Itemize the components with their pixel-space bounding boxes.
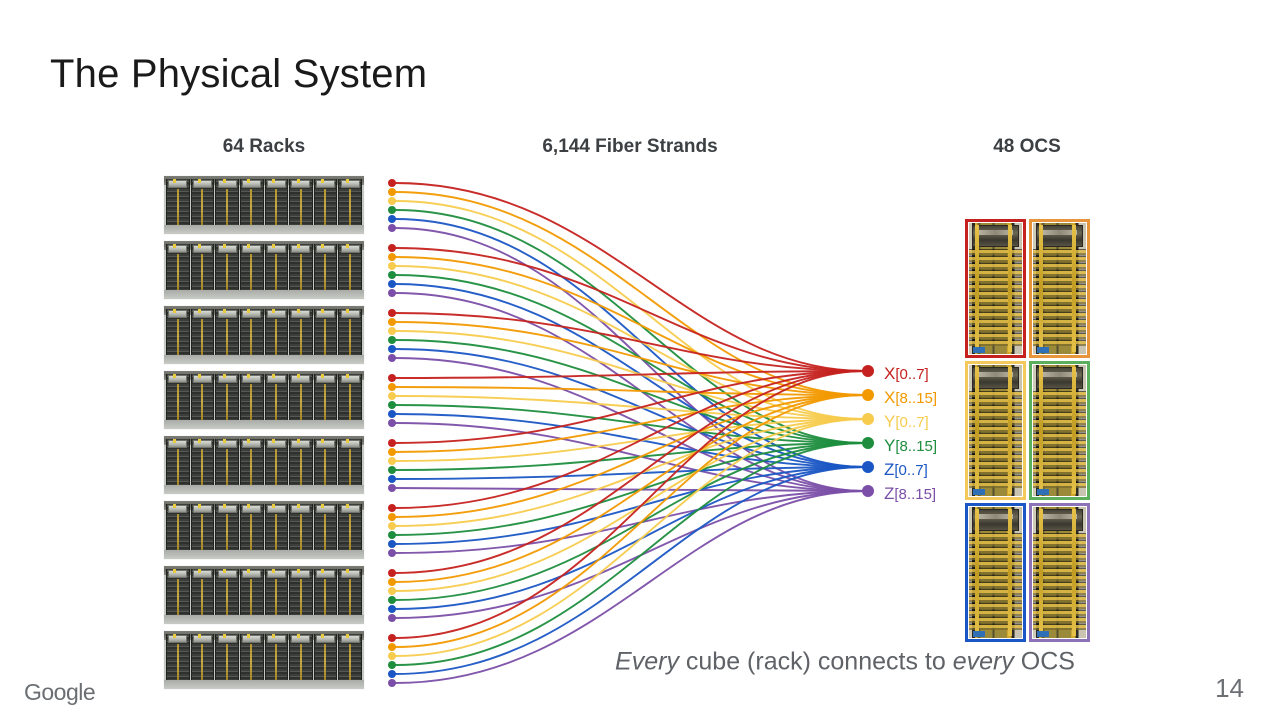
legend-item-z-4: Z[0..7] xyxy=(884,458,937,482)
rack-unit xyxy=(289,244,313,292)
fiber-target-dots xyxy=(862,365,874,497)
rack-row-floor xyxy=(164,550,364,559)
rack-cable-icon xyxy=(173,244,176,248)
rack-unit xyxy=(166,569,190,617)
ocs-unit xyxy=(965,361,1026,500)
rack-unit xyxy=(240,374,264,422)
rack-unit xyxy=(191,179,215,227)
rack-cable-icon xyxy=(198,634,201,638)
column-header-ocs: 48 OCS xyxy=(993,136,1061,158)
ocs-photo xyxy=(969,507,1022,638)
rack-row xyxy=(164,176,364,234)
rack-row-floor xyxy=(164,615,364,624)
ocs-foot-detail xyxy=(1037,489,1049,495)
rack-row-floor xyxy=(164,680,364,689)
rack-unit-group xyxy=(166,244,362,292)
rack-unit xyxy=(289,634,313,682)
rack-cable-icon xyxy=(198,244,201,248)
rack-unit-group xyxy=(166,569,362,617)
slide-caption: Every cube (rack) connects to every OCS xyxy=(615,648,1075,677)
legend-range-label: [8..15] xyxy=(894,486,936,503)
rack-unit xyxy=(191,374,215,422)
rack-unit xyxy=(215,439,239,487)
rack-unit xyxy=(338,569,362,617)
rack-unit xyxy=(191,309,215,357)
rack-unit xyxy=(240,569,264,617)
rack-unit xyxy=(314,179,338,227)
rack-cable-icon xyxy=(346,504,349,508)
rack-unit xyxy=(314,569,338,617)
rack-cable-icon xyxy=(346,439,349,443)
ocs-foot-detail xyxy=(1037,347,1049,353)
rack-row xyxy=(164,436,364,494)
rack-unit xyxy=(338,244,362,292)
rack-unit xyxy=(240,309,264,357)
rack-row xyxy=(164,306,364,364)
rack-cable-icon xyxy=(297,634,300,638)
rack-unit xyxy=(338,179,362,227)
fiber-group-legend: X[0..7]X[8..15]Y[0..7]Y[8..15]Z[0..7]Z[8… xyxy=(884,362,937,506)
rack-cable-icon xyxy=(272,244,275,248)
rack-unit xyxy=(191,634,215,682)
rack-cable-icon xyxy=(173,309,176,313)
rack-unit xyxy=(215,244,239,292)
rack-cable-icon xyxy=(173,179,176,183)
rack-unit xyxy=(166,439,190,487)
legend-item-x-0: X[0..7] xyxy=(884,362,937,386)
ocs-unit-grid xyxy=(965,219,1090,642)
ocs-photo xyxy=(1033,507,1086,638)
legend-item-y-2: Y[0..7] xyxy=(884,410,937,434)
rack-unit xyxy=(314,634,338,682)
ocs-post-r-detail xyxy=(1072,225,1076,352)
ocs-post-r-detail xyxy=(1072,367,1076,494)
rack-cable-icon xyxy=(297,244,300,248)
legend-axis-label: Z xyxy=(884,484,894,503)
rack-cable-icon xyxy=(173,634,176,638)
rack-row-floor xyxy=(164,355,364,364)
rack-unit xyxy=(215,634,239,682)
rack-cable-icon xyxy=(321,309,324,313)
rack-unit xyxy=(265,504,289,552)
rack-cable-icon xyxy=(247,179,250,183)
rack-cable-icon xyxy=(321,569,324,573)
fiber-source-dots xyxy=(388,179,396,687)
ocs-post-r-detail xyxy=(1008,367,1012,494)
rack-unit xyxy=(215,374,239,422)
rack-unit xyxy=(191,504,215,552)
rack-row-floor xyxy=(164,290,364,299)
rack-cable-icon xyxy=(297,309,300,313)
rack-unit xyxy=(289,374,313,422)
legend-axis-label: Y xyxy=(884,412,895,431)
ocs-post-r-detail xyxy=(1008,509,1012,636)
rack-cable-icon xyxy=(272,179,275,183)
fiber-strand-curves xyxy=(395,183,865,683)
rack-unit xyxy=(338,309,362,357)
rack-unit xyxy=(265,569,289,617)
rack-unit xyxy=(240,504,264,552)
rack-unit xyxy=(191,569,215,617)
rack-cable-icon xyxy=(297,179,300,183)
rack-row xyxy=(164,566,364,624)
rack-cable-icon xyxy=(346,179,349,183)
rack-unit xyxy=(289,569,313,617)
rack-cable-icon xyxy=(223,569,226,573)
legend-axis-label: X xyxy=(884,388,895,407)
legend-axis-label: Z xyxy=(884,460,894,479)
rack-cable-icon xyxy=(346,634,349,638)
rack-cable-icon xyxy=(223,244,226,248)
caption-text: OCS xyxy=(1014,648,1075,676)
rack-unit-group xyxy=(166,309,362,357)
legend-axis-label: Y xyxy=(884,436,895,455)
rack-cable-icon xyxy=(297,569,300,573)
legend-range-label: [0..7] xyxy=(894,462,927,479)
rack-row xyxy=(164,631,364,689)
rack-cable-icon xyxy=(346,374,349,378)
rack-row xyxy=(164,371,364,429)
rack-row-floor xyxy=(164,420,364,429)
rack-unit xyxy=(240,439,264,487)
rack-unit xyxy=(265,309,289,357)
google-logo: Google xyxy=(24,679,95,706)
rack-cable-icon xyxy=(247,504,250,508)
rack-cable-icon xyxy=(321,244,324,248)
ocs-post-l-detail xyxy=(1039,509,1043,636)
legend-range-label: [8..15] xyxy=(895,438,937,455)
legend-axis-label: X xyxy=(884,364,895,383)
legend-range-label: [0..7] xyxy=(895,414,928,431)
rack-unit xyxy=(265,179,289,227)
legend-item-x-1: X[8..15] xyxy=(884,386,937,410)
rack-cable-icon xyxy=(198,569,201,573)
rack-unit xyxy=(314,439,338,487)
rack-unit xyxy=(314,504,338,552)
ocs-unit xyxy=(1029,361,1090,500)
rack-cable-icon xyxy=(198,309,201,313)
rack-cable-icon xyxy=(223,439,226,443)
rack-cable-icon xyxy=(321,374,324,378)
ocs-photo xyxy=(969,223,1022,354)
rack-unit xyxy=(191,439,215,487)
rack-unit xyxy=(338,374,362,422)
ocs-unit xyxy=(965,219,1026,358)
rack-cable-icon xyxy=(272,439,275,443)
rack-row xyxy=(164,501,364,559)
rack-cable-icon xyxy=(247,634,250,638)
rack-cable-icon xyxy=(247,439,250,443)
ocs-post-r-detail xyxy=(1072,509,1076,636)
caption-emphasis: Every xyxy=(615,648,679,676)
caption-text: cube (rack) connects to xyxy=(679,648,953,676)
rack-cable-icon xyxy=(223,504,226,508)
rack-cable-icon xyxy=(346,244,349,248)
rack-cable-icon xyxy=(223,634,226,638)
rack-unit xyxy=(338,634,362,682)
ocs-post-l-detail xyxy=(1039,367,1043,494)
rack-unit xyxy=(314,374,338,422)
rack-unit xyxy=(240,634,264,682)
rack-cable-icon xyxy=(346,309,349,313)
column-header-fiber: 6,144 Fiber Strands xyxy=(542,136,717,158)
rack-cable-icon xyxy=(272,374,275,378)
rack-unit xyxy=(314,309,338,357)
rack-unit xyxy=(289,439,313,487)
rack-unit xyxy=(215,179,239,227)
rack-unit xyxy=(338,439,362,487)
rack-unit-group xyxy=(166,634,362,682)
rack-cable-icon xyxy=(173,374,176,378)
rack-cable-icon xyxy=(223,374,226,378)
legend-item-y-3: Y[8..15] xyxy=(884,434,937,458)
rack-unit xyxy=(289,179,313,227)
ocs-photo xyxy=(969,365,1022,496)
rack-cable-icon xyxy=(223,179,226,183)
rack-cable-icon xyxy=(321,634,324,638)
rack-unit xyxy=(265,374,289,422)
rack-unit xyxy=(215,309,239,357)
rack-unit xyxy=(289,504,313,552)
rack-unit xyxy=(265,244,289,292)
rack-cable-icon xyxy=(198,374,201,378)
ocs-unit xyxy=(1029,219,1090,358)
ocs-post-l-detail xyxy=(975,367,979,494)
rack-cable-icon xyxy=(297,504,300,508)
ocs-post-l-detail xyxy=(975,225,979,352)
rack-unit xyxy=(289,309,313,357)
ocs-foot-detail xyxy=(1037,631,1049,637)
page-number: 14 xyxy=(1215,673,1244,704)
rack-cable-icon xyxy=(223,309,226,313)
ocs-unit xyxy=(1029,503,1090,642)
rack-cable-icon xyxy=(198,504,201,508)
rack-unit xyxy=(166,179,190,227)
rack-cable-icon xyxy=(173,439,176,443)
rack-unit xyxy=(314,244,338,292)
rack-unit xyxy=(338,504,362,552)
ocs-post-r-detail xyxy=(1008,225,1012,352)
legend-range-label: [0..7] xyxy=(895,366,928,383)
rack-cable-icon xyxy=(198,179,201,183)
rack-cable-icon xyxy=(247,569,250,573)
rack-unit xyxy=(166,309,190,357)
ocs-photo xyxy=(1033,365,1086,496)
rack-strip-column xyxy=(164,176,364,696)
rack-cable-icon xyxy=(247,309,250,313)
rack-cable-icon xyxy=(321,439,324,443)
rack-cable-icon xyxy=(272,569,275,573)
rack-row-floor xyxy=(164,485,364,494)
legend-range-label: [8..15] xyxy=(895,390,937,407)
rack-unit xyxy=(240,179,264,227)
rack-cable-icon xyxy=(173,504,176,508)
rack-unit xyxy=(240,244,264,292)
rack-unit xyxy=(166,634,190,682)
rack-unit xyxy=(166,374,190,422)
rack-cable-icon xyxy=(272,309,275,313)
rack-row xyxy=(164,241,364,299)
page-title: The Physical System xyxy=(50,52,427,97)
rack-cable-icon xyxy=(346,569,349,573)
rack-unit xyxy=(265,634,289,682)
rack-cable-icon xyxy=(321,179,324,183)
rack-unit-group xyxy=(166,179,362,227)
ocs-foot-detail xyxy=(973,489,985,495)
rack-cable-icon xyxy=(198,439,201,443)
ocs-unit xyxy=(965,503,1026,642)
caption-emphasis: every xyxy=(953,648,1014,676)
legend-item-z-5: Z[8..15] xyxy=(884,482,937,506)
rack-unit xyxy=(166,504,190,552)
rack-unit xyxy=(191,244,215,292)
ocs-foot-detail xyxy=(973,347,985,353)
rack-cable-icon xyxy=(247,374,250,378)
ocs-post-l-detail xyxy=(1039,225,1043,352)
column-header-racks: 64 Racks xyxy=(223,136,305,158)
rack-cable-icon xyxy=(297,374,300,378)
rack-cable-icon xyxy=(247,244,250,248)
rack-unit-group xyxy=(166,504,362,552)
rack-cable-icon xyxy=(272,634,275,638)
ocs-post-l-detail xyxy=(975,509,979,636)
rack-unit-group xyxy=(166,374,362,422)
rack-cable-icon xyxy=(297,439,300,443)
rack-unit xyxy=(215,569,239,617)
rack-cable-icon xyxy=(173,569,176,573)
rack-unit xyxy=(166,244,190,292)
rack-unit-group xyxy=(166,439,362,487)
rack-unit xyxy=(215,504,239,552)
rack-cable-icon xyxy=(321,504,324,508)
rack-row-floor xyxy=(164,225,364,234)
ocs-photo xyxy=(1033,223,1086,354)
ocs-foot-detail xyxy=(973,631,985,637)
rack-unit xyxy=(265,439,289,487)
rack-cable-icon xyxy=(272,504,275,508)
